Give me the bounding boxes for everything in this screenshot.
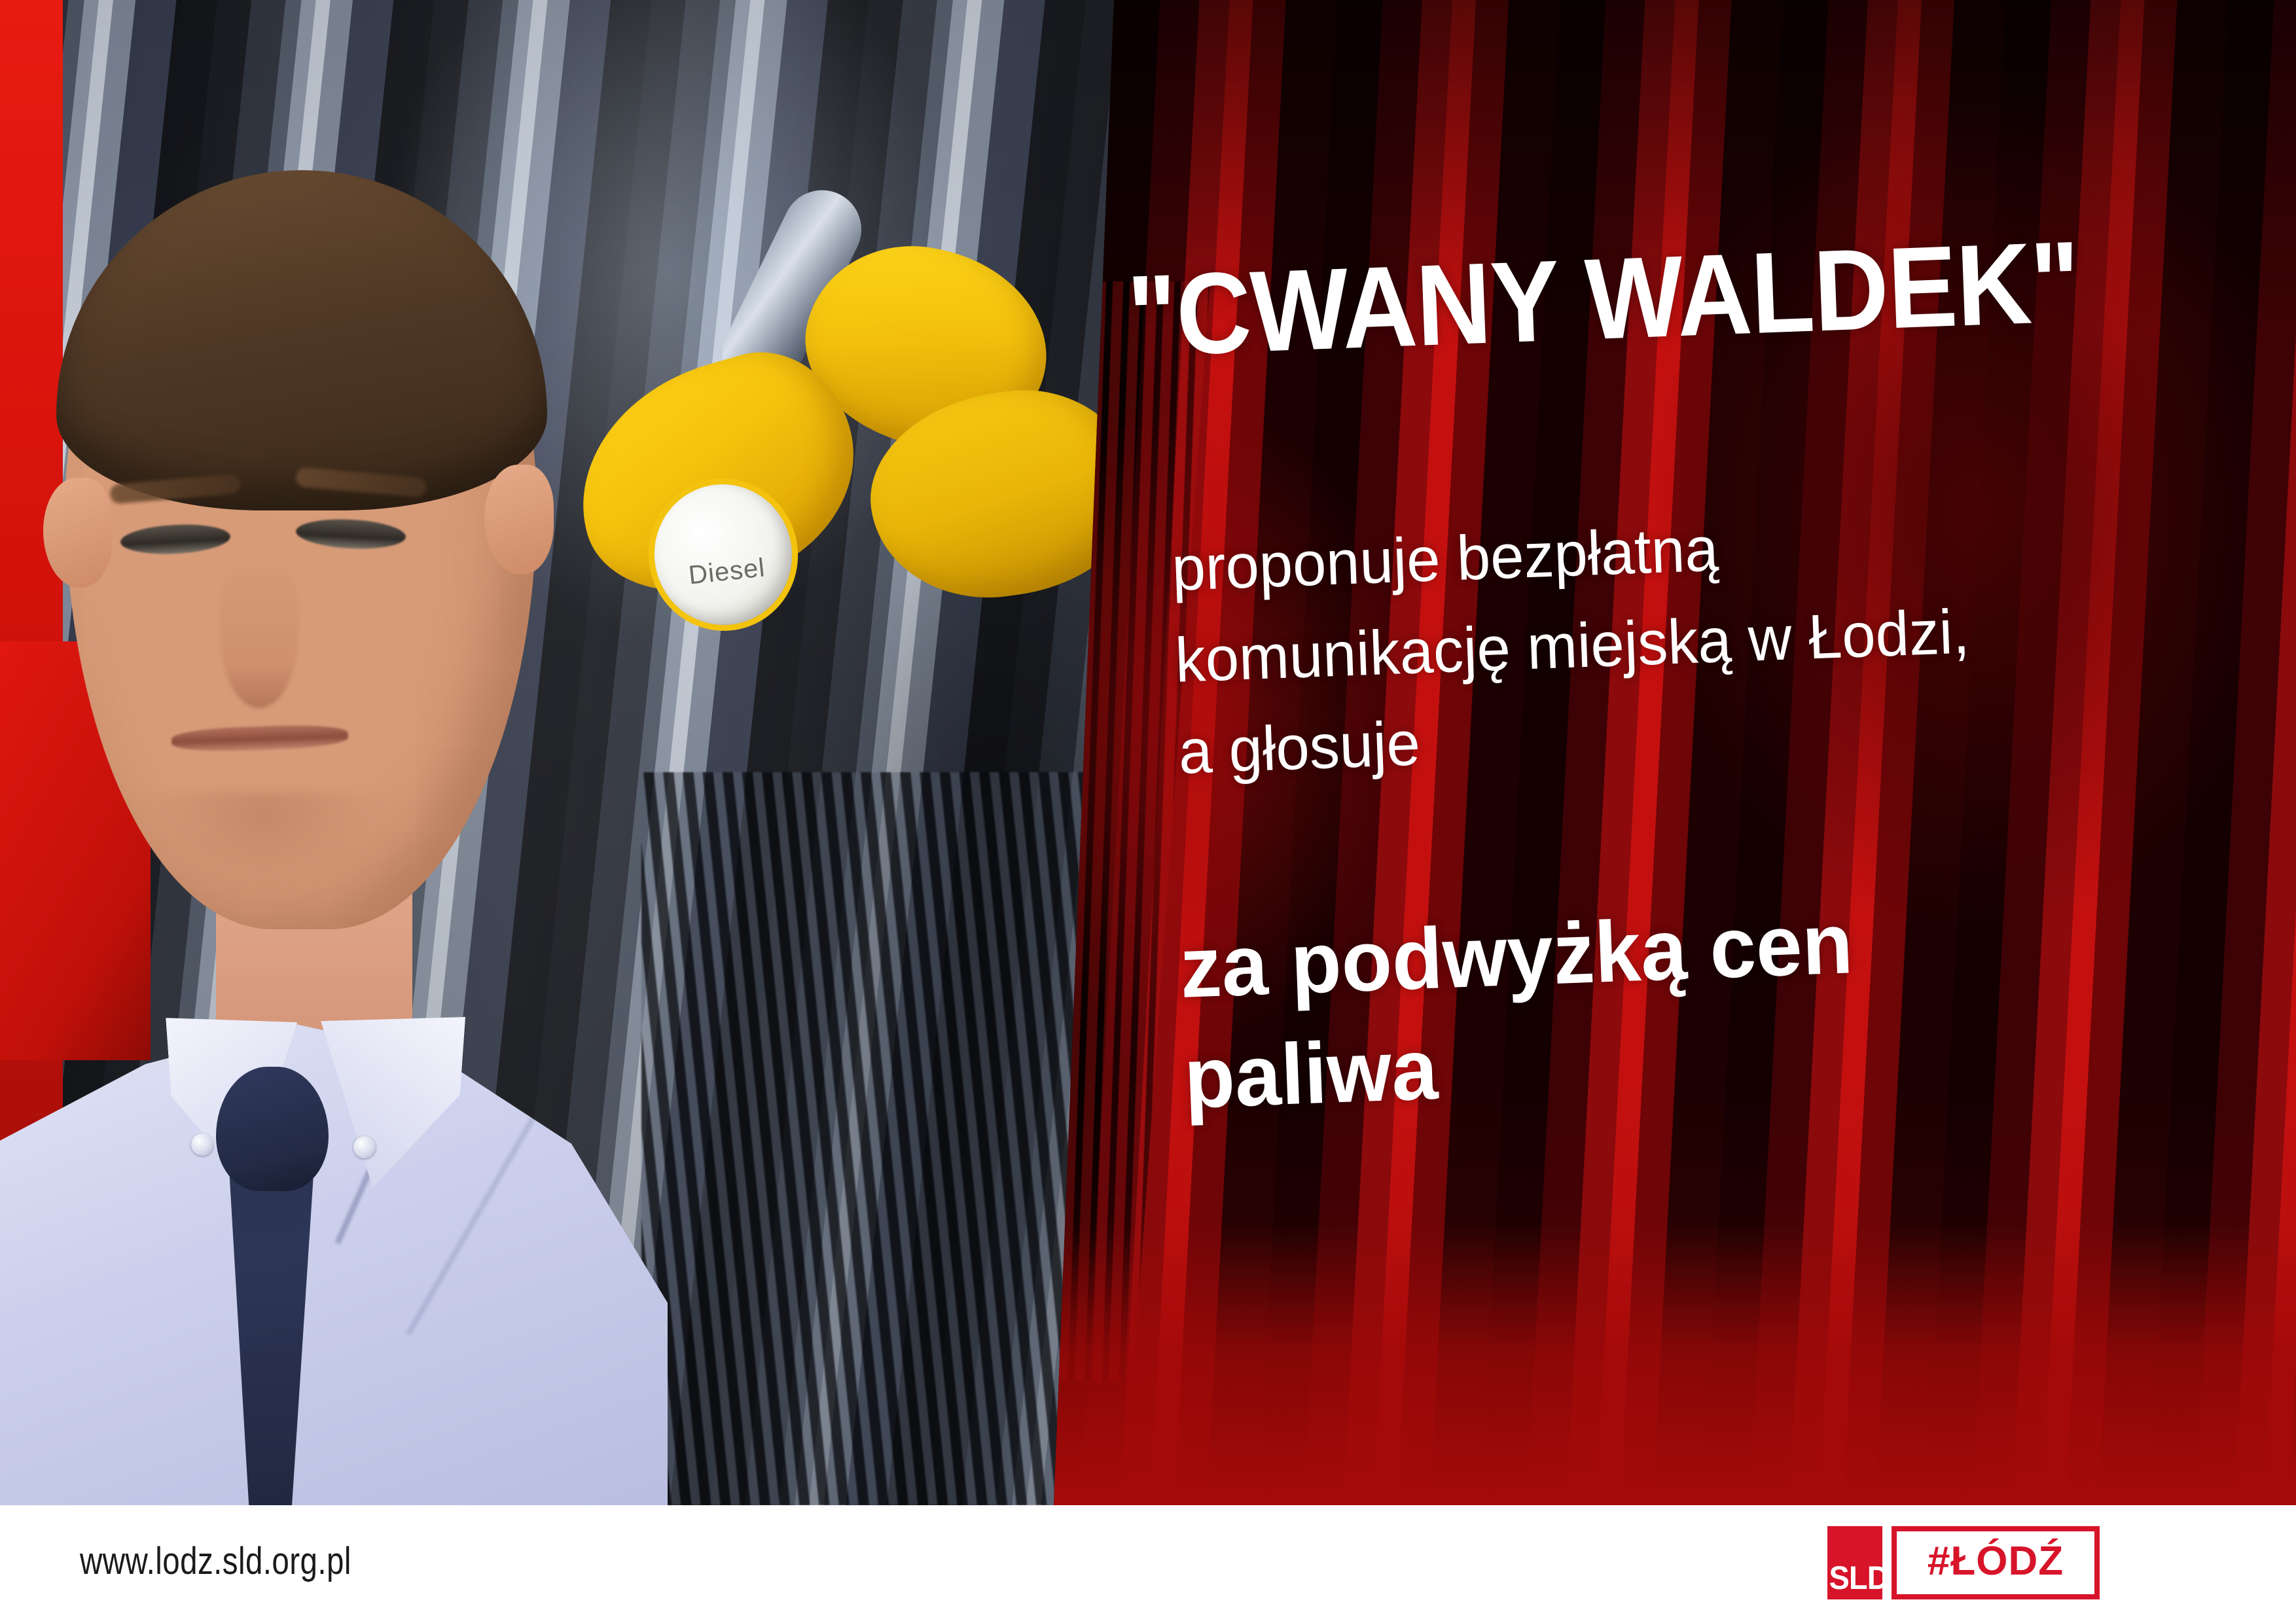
lodz-logo[interactable]: #ŁÓDŹ [1892,1526,2100,1599]
lodz-logo-text: #ŁÓDŹ [1913,1538,2078,1588]
necktie-knot [216,1067,329,1191]
candidate-photo-cutout [0,72,661,1505]
shirt [0,1014,668,1512]
hair [56,170,547,510]
nose [220,558,298,708]
diesel-label-text: Diesel [657,550,797,594]
ear-left [43,478,113,588]
collar-button-right [353,1136,376,1158]
sld-logo-text: SLD [1829,1559,1881,1597]
logo-group: SLD #ŁÓDŹ [1827,1526,2100,1599]
poster-emphasis-text: za podwyżką cen paliwa [1178,888,1859,1133]
website-url[interactable]: www.lodz.sld.org.pl [80,1539,351,1583]
ear-right [484,465,554,575]
collar-button-left [191,1133,213,1156]
campaign-poster: Diesel "CWANY WALDEK" [0,0,2296,1623]
footer-bar: www.lodz.sld.org.pl SLD #ŁÓDŹ [0,1505,2296,1623]
chin-shadow [131,792,399,903]
sld-logo[interactable]: SLD [1827,1526,1882,1599]
poster-body-text: proponuje bezpłatną komunikację miejską … [1170,495,1975,799]
